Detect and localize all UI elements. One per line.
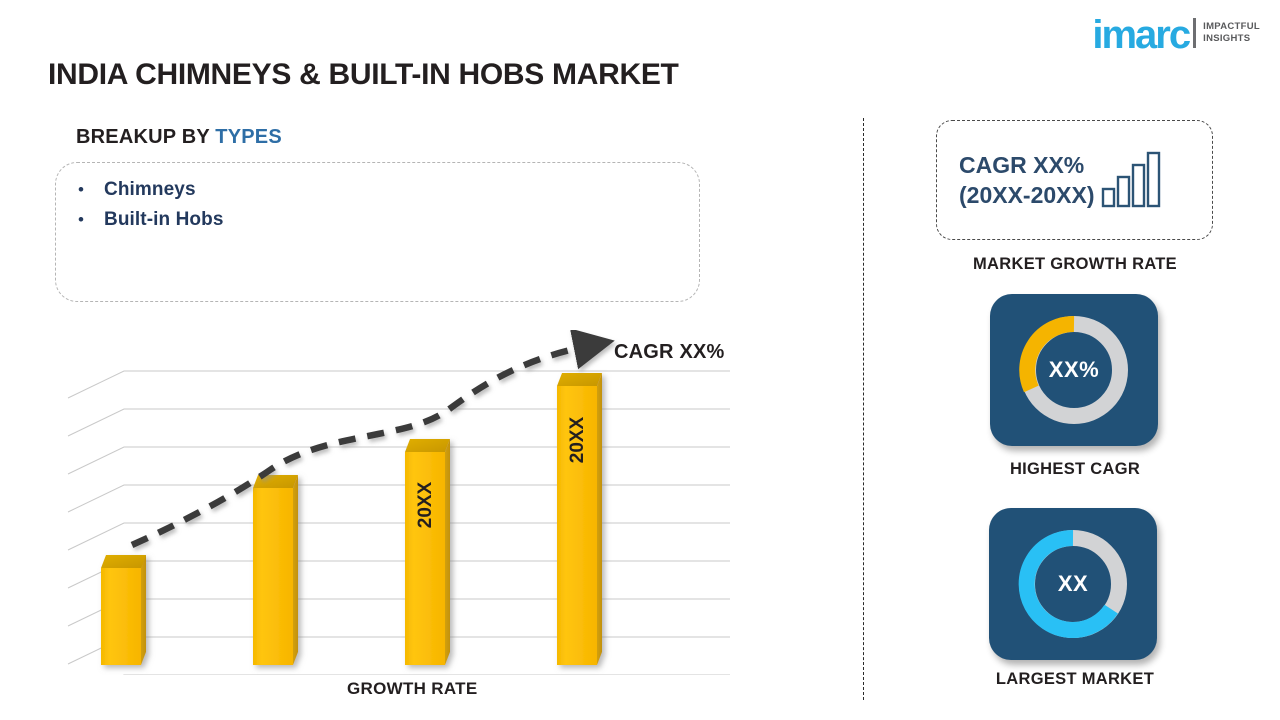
chart-bar-3 [405, 439, 450, 665]
cagr-box-line1: CAGR XX% [959, 150, 1095, 180]
breakup-heading: BREAKUP BY TYPES [76, 126, 282, 149]
market-growth-rate-caption: MARKET GROWTH RATE [905, 255, 1245, 274]
list-item-label: Chimneys [104, 179, 196, 201]
logo-tagline-line1: IMPACTFUL [1203, 21, 1260, 33]
chart-xaxis-label: GROWTH RATE [347, 679, 477, 699]
bullet-icon: • [78, 205, 104, 235]
list-item: • Built-in Hobs [78, 205, 699, 235]
highest-cagr-value: XX% [1014, 310, 1134, 430]
largest-market-donut: XX [1013, 524, 1133, 644]
list-item: • Chimneys [78, 175, 699, 205]
highest-cagr-donut: XX% [1014, 310, 1134, 430]
cagr-box-line2: (20XX-20XX) [959, 180, 1095, 210]
chart-gridlines [68, 371, 730, 664]
section-divider [863, 118, 864, 700]
highest-cagr-tile: XX% [990, 294, 1158, 446]
largest-market-value: XX [1013, 524, 1133, 644]
chart-cagr-annotation: CAGR XX% [614, 341, 725, 364]
logo-tagline: IMPACTFUL INSIGHTS [1203, 21, 1260, 45]
bullet-icon: • [78, 175, 104, 205]
bar-chart-icon [1101, 149, 1163, 216]
growth-rate-chart: 20XX 20XX [48, 330, 748, 675]
market-growth-rate-box: CAGR XX% (20XX-20XX) [936, 120, 1213, 240]
imarc-logo: imarc IMPACTFUL INSIGHTS [1092, 12, 1260, 54]
logo-tagline-line2: INSIGHTS [1203, 33, 1260, 45]
highest-cagr-caption: HIGHEST CAGR [905, 460, 1245, 479]
logo-divider [1193, 18, 1196, 48]
chart-bar-2 [253, 475, 298, 665]
chart-bar-1 [101, 555, 146, 665]
largest-market-tile: XX [989, 508, 1157, 660]
chart-bar-label-3: 20XX [415, 481, 436, 528]
breakup-heading-prefix: BREAKUP BY [76, 126, 215, 148]
logo-wordmark: imarc [1092, 16, 1189, 54]
list-item-label: Built-in Hobs [104, 209, 224, 231]
breakup-heading-accent: TYPES [215, 126, 282, 148]
chart-bar-label-4: 20XX [567, 416, 588, 463]
breakup-types-box: • Chimneys • Built-in Hobs [55, 162, 700, 302]
cagr-box-text: CAGR XX% (20XX-20XX) [959, 150, 1095, 210]
chart-svg: 20XX 20XX [48, 330, 748, 675]
page-title: INDIA CHIMNEYS & BUILT-IN HOBS MARKET [48, 58, 679, 92]
chart-trend-line [132, 346, 588, 545]
largest-market-caption: LARGEST MARKET [905, 670, 1245, 689]
